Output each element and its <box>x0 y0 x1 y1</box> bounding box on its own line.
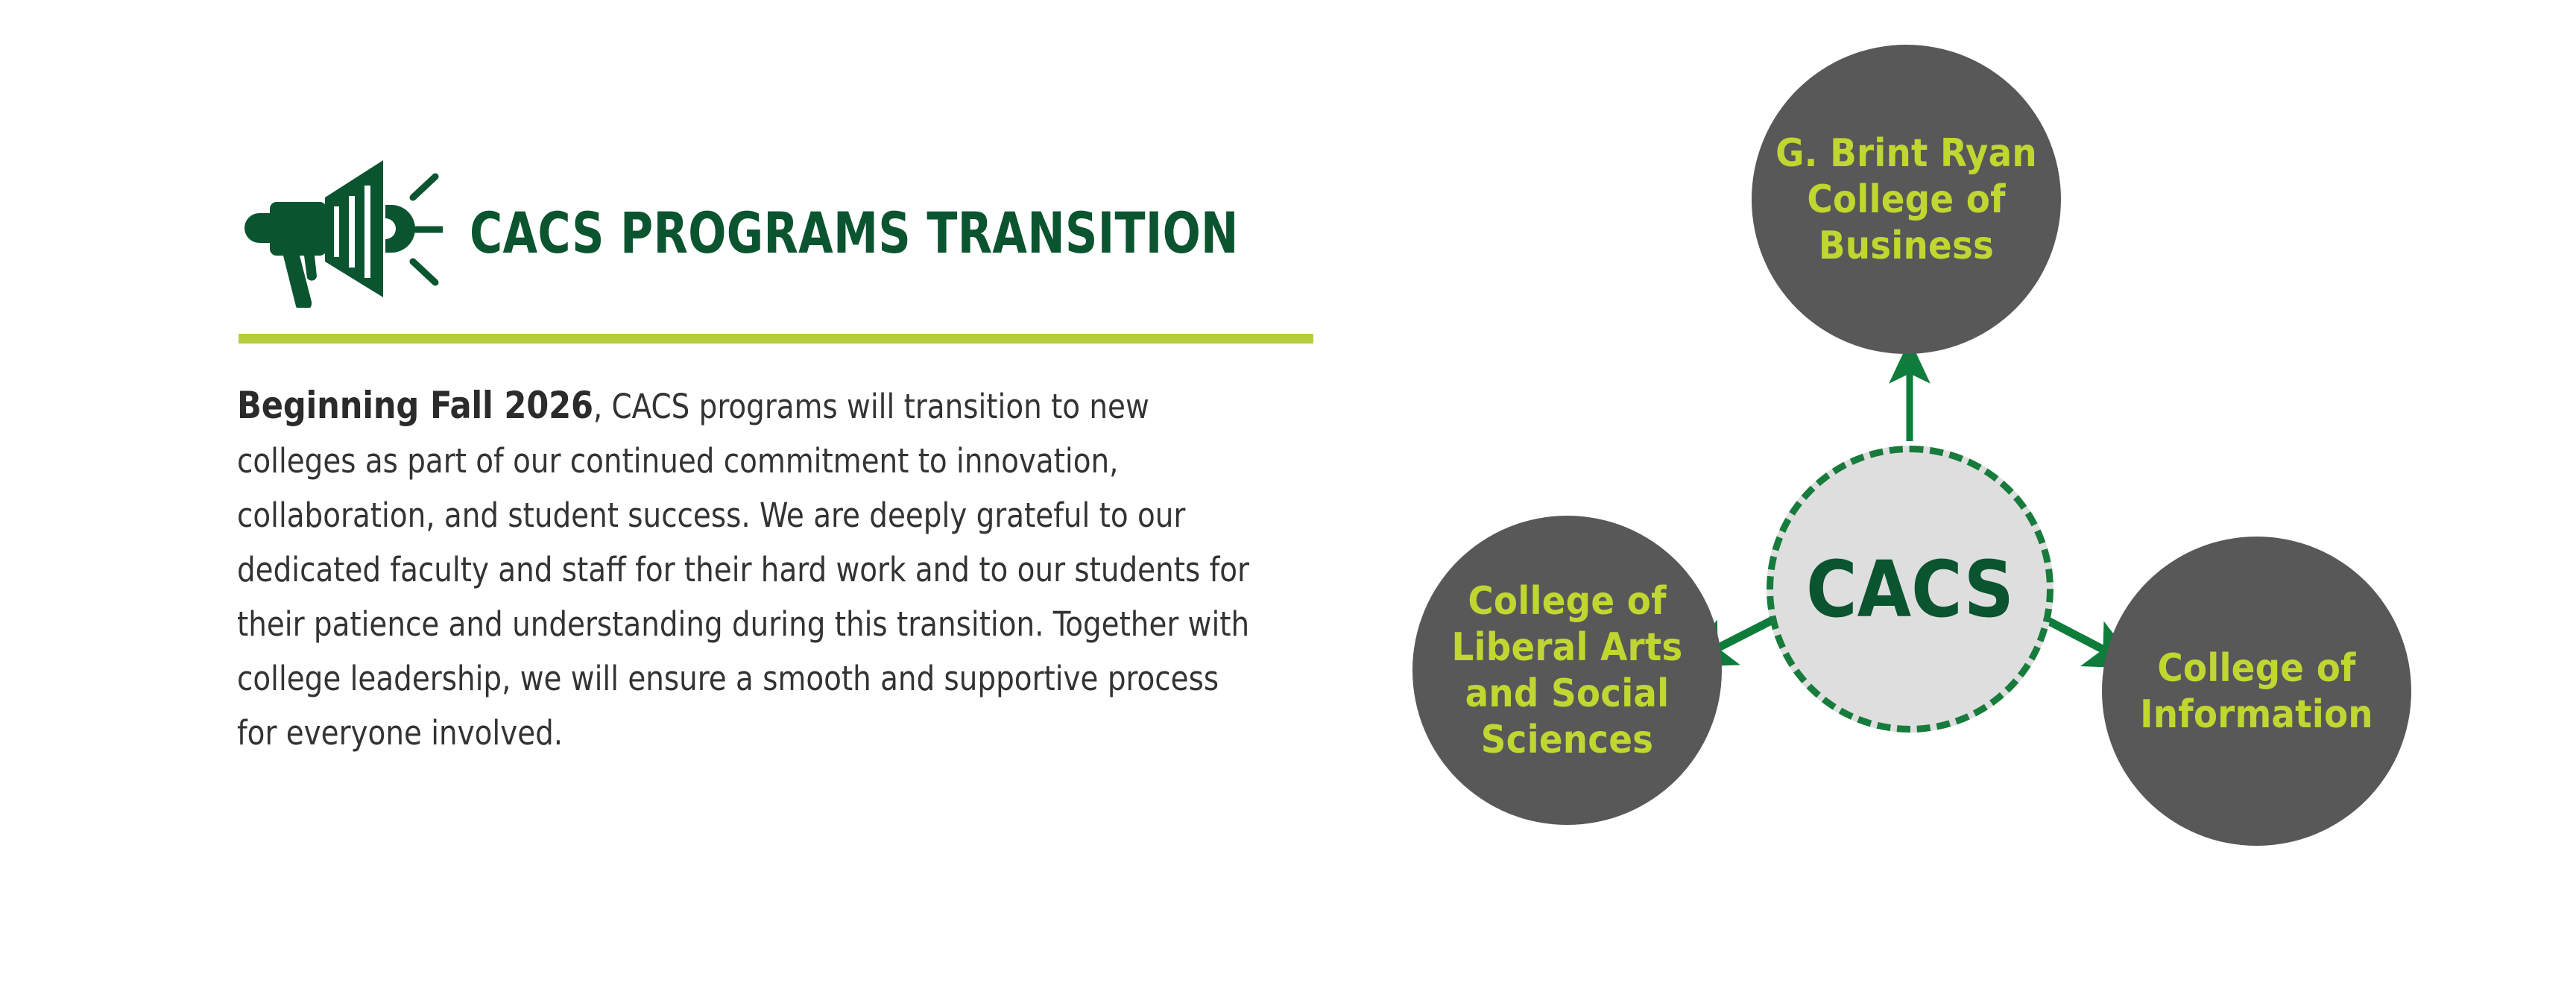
node-cacs-center[interactable]: CACS <box>1767 446 2053 733</box>
node-college-of-liberal-arts[interactable]: College of Liberal Arts and Social Scien… <box>1412 516 1722 825</box>
node-liberal-arts-label: College of Liberal Arts and Social Scien… <box>1436 578 1699 763</box>
node-business-label: G. Brint Ryan College of Business <box>1759 130 2053 269</box>
announcement-rest: , CACS programs will transition to new c… <box>237 387 1249 753</box>
node-cacs-label: CACS <box>1790 551 2030 628</box>
announcement-panel: CACS PROGRAMS TRANSITION Beginning Fall … <box>0 0 1379 1006</box>
arrow-to-information <box>2041 617 2115 656</box>
accent-divider <box>239 334 1313 344</box>
page-title: CACS PROGRAMS TRANSITION <box>470 204 1239 262</box>
node-information-label: College of Information <box>2124 645 2390 738</box>
header-row: CACS PROGRAMS TRANSITION <box>237 145 1318 320</box>
poster-canvas: CACS PROGRAMS TRANSITION Beginning Fall … <box>0 0 2576 1006</box>
announcement-lead: Beginning Fall 2026 <box>237 384 593 427</box>
megaphone-icon <box>237 159 443 308</box>
announcement-body: Beginning Fall 2026, CACS programs will … <box>237 379 1253 760</box>
college-transition-diagram: G. Brint Ryan College of Business Colleg… <box>1379 0 2576 1006</box>
node-college-of-business[interactable]: G. Brint Ryan College of Business <box>1752 45 2061 354</box>
node-college-of-information[interactable]: College of Information <box>2102 537 2411 846</box>
